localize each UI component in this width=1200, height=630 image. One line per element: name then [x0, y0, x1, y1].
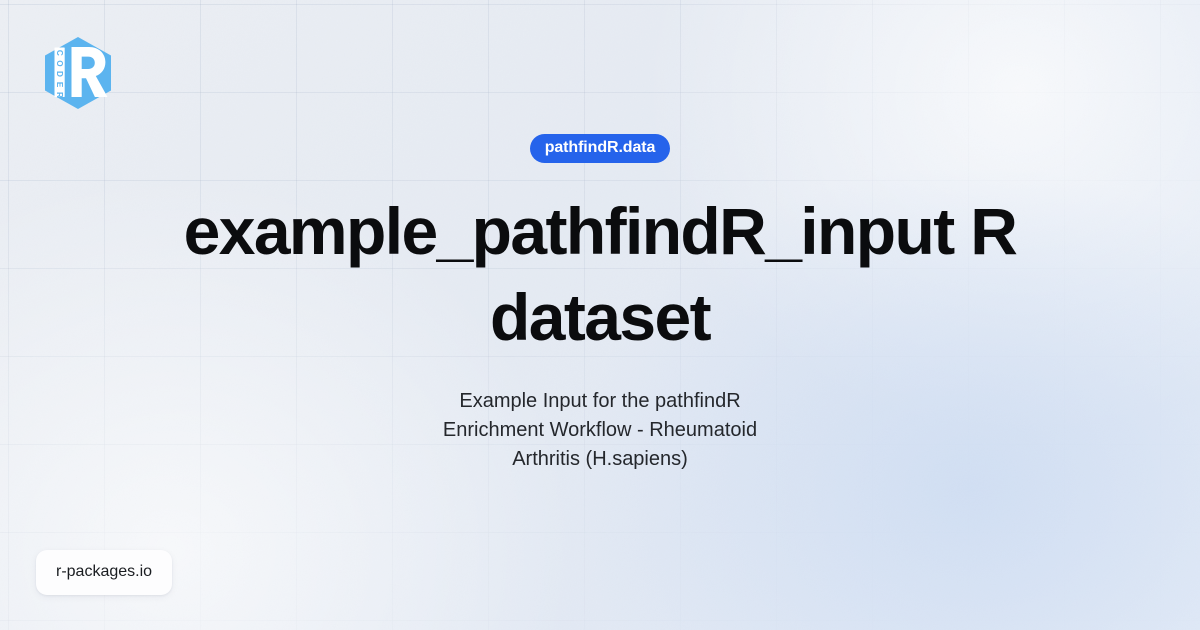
site-url-badge[interactable]: r-packages.io [36, 550, 172, 595]
page-title: example_pathfindR_input R dataset [170, 189, 1030, 361]
package-badge[interactable]: pathfindR.data [530, 134, 671, 163]
hero-content: pathfindR.data example_pathfindR_input R… [0, 0, 1200, 630]
og-card-canvas: C O D E R pathfindR.data example_pathfin… [0, 0, 1200, 630]
page-subtitle: Example Input for the pathfindR Enrichme… [420, 387, 780, 474]
